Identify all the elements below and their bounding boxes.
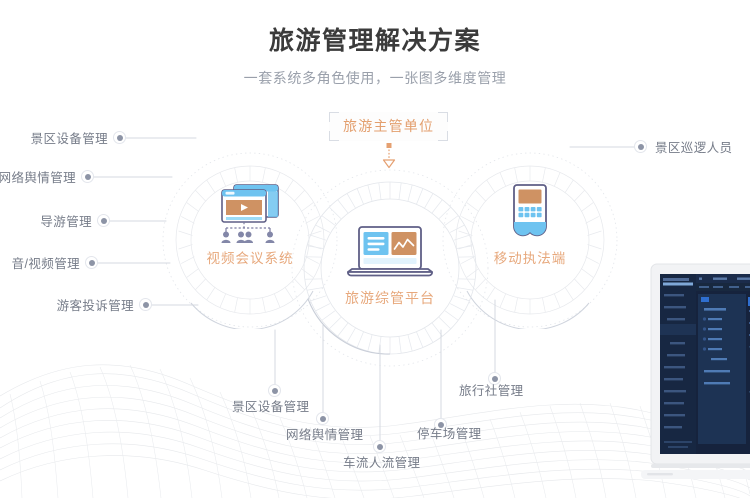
node-tourism-platform[interactable]: 旅游综管平台: [330, 225, 450, 306]
bottom-label-1: 景区设备管理: [232, 399, 309, 415]
node-video-conference-label: 视频会议系统: [190, 251, 310, 267]
badge-corner-tr: [438, 112, 448, 122]
connector-dot-bottom-2: [316, 412, 329, 425]
connector-dot-left-1: [113, 131, 126, 144]
connector-dot-bottom-1: [268, 384, 281, 397]
node-mobile-enforcement[interactable]: 移动执法端: [470, 182, 590, 267]
badge-corner-br: [438, 131, 448, 141]
page-title: 旅游管理解决方案: [0, 0, 750, 56]
badge-corner-bl: [329, 131, 339, 141]
mobile-device-icon: [505, 182, 555, 244]
header: 旅游管理解决方案 一套系统多角色使用，一张图多维度管理: [0, 0, 750, 87]
laptop-dashboard-icon: [340, 225, 440, 283]
connector-dot-bottom-3: [373, 440, 386, 453]
laptop-dashboard-mockup: [641, 258, 750, 498]
connector-dot-right-1: [634, 140, 647, 153]
right-label-1: 景区巡逻人员: [655, 140, 732, 156]
node-mobile-enforcement-label: 移动执法端: [470, 251, 590, 267]
authority-badge-group: 旅游主管单位: [329, 112, 448, 169]
left-label-5: 游客投诉管理: [49, 298, 134, 314]
badge-corner-tl: [329, 112, 339, 122]
connector-dot-left-2: [81, 170, 94, 183]
connector-dot-left-3: [97, 214, 110, 227]
bottom-label-3: 车流人流管理: [343, 455, 420, 471]
infographic-canvas: 旅游管理解决方案 一套系统多角色使用，一张图多维度管理: [0, 0, 750, 498]
authority-badge[interactable]: 旅游主管单位: [329, 112, 448, 141]
bottom-label-5: 旅行社管理: [459, 383, 524, 399]
left-label-1: 景区设备管理: [23, 131, 108, 147]
connector-dot-left-4: [85, 256, 98, 269]
background-wave-mesh: [0, 348, 750, 498]
left-label-3: 导游管理: [27, 214, 92, 230]
node-tourism-platform-label: 旅游综管平台: [330, 290, 450, 306]
bottom-label-4: 停车场管理: [417, 426, 482, 442]
bottom-label-2: 网络舆情管理: [286, 427, 363, 443]
authority-badge-label: 旅游主管单位: [343, 118, 434, 134]
left-label-4: 音/视频管理: [0, 256, 80, 272]
page-subtitle: 一套系统多角色使用，一张图多维度管理: [0, 56, 750, 87]
node-video-conference[interactable]: 视频会议系统: [190, 182, 310, 267]
connector-dot-left-5: [139, 298, 152, 311]
left-label-2: 网络舆情管理: [0, 170, 76, 186]
video-conference-icon: [212, 182, 288, 244]
down-arrow-icon: [378, 143, 400, 169]
